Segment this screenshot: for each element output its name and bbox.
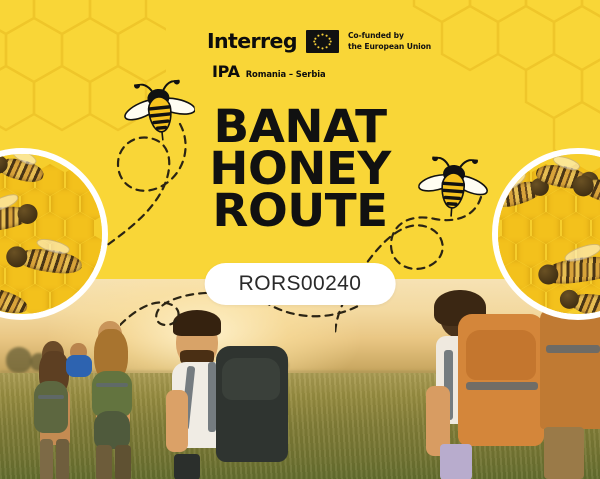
bee-illustration-icon	[416, 156, 490, 223]
eu-funding-line-2: the European Union	[348, 42, 431, 52]
logo-top-row: Interreg	[207, 30, 407, 53]
programme-row: IPA Romania – Serbia	[212, 62, 407, 81]
poster-canvas: Interreg	[0, 0, 600, 479]
interreg-wordmark: Interreg	[207, 31, 297, 52]
hiker-figure	[400, 294, 550, 479]
photo-bee	[568, 289, 600, 320]
programme-countries: Romania – Serbia	[246, 69, 326, 79]
status-badge[interactable]: RORS00240	[205, 263, 396, 305]
interreg-logo-block: Interreg	[207, 30, 407, 81]
eu-flag-stars-icon	[306, 30, 339, 53]
hiker-figure	[158, 304, 298, 479]
bees-honeycomb-photo-right	[492, 148, 600, 320]
eu-funding-line-1: Co-funded by	[348, 31, 431, 41]
bees-honeycomb-photo-left	[0, 148, 108, 320]
eu-funding-text: Co-funded by the European Union	[348, 31, 431, 51]
programme-label: IPA	[212, 62, 240, 81]
code-value: RORS00240	[239, 272, 362, 295]
bee-illustration-icon	[120, 78, 198, 147]
hiker-figure	[80, 319, 150, 479]
